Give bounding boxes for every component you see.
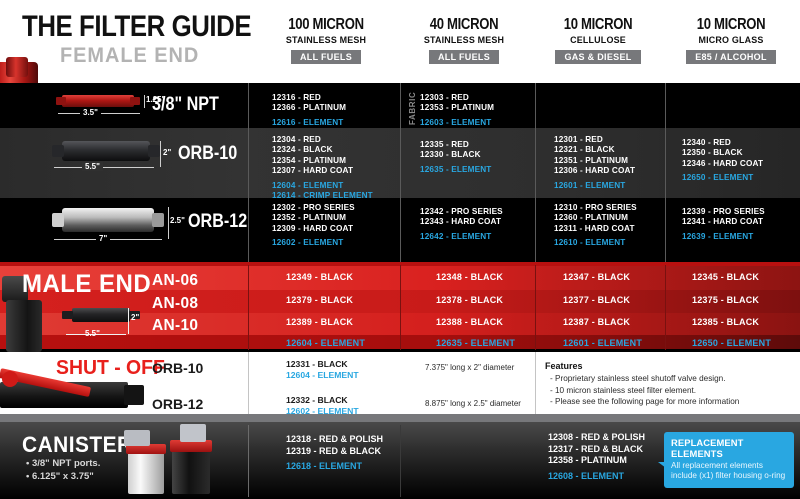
dimension-line-orb12-dia — [168, 207, 169, 239]
dimension-npt-length: 3.5" — [80, 108, 101, 117]
filter-photo-orb10 — [62, 141, 150, 161]
shutoff-dims-orb10: 7.375" long x 2" diameter — [425, 363, 514, 372]
element-part-number: 12601 - ELEMENT — [554, 181, 635, 191]
column-header-3: 10 MICRON MICRO GLASS E85 / ALCOHOL — [664, 16, 798, 65]
element-part-number: 12604 - ELEMENT — [286, 370, 359, 381]
cell-orb10-10micron-glass: 12340 - RED 12350 - BLACK 12346 - HARD C… — [682, 138, 763, 184]
part-number: 12332 - BLACK — [286, 395, 359, 406]
dimension-orb12-diameter: 2.5" — [170, 216, 185, 225]
feature-item: - Please see the following page for more… — [550, 396, 739, 408]
part-number: 12346 - HARD COAT — [682, 159, 763, 169]
shutoff-lever-pivot — [2, 371, 18, 387]
male-part-c0-r2: 12389 - BLACK — [286, 317, 353, 327]
element-part-number: 12602 - ELEMENT — [272, 238, 355, 248]
filter-photo-npt-end-r — [130, 97, 140, 105]
fabric-label: FABRIC — [408, 93, 417, 125]
male-size-an06: AN-06 — [152, 272, 198, 290]
canister-photo-polish — [128, 450, 164, 494]
cell-npt-40micron: 12303 - RED 12353 - PLATINUM 12603 - ELE… — [420, 93, 494, 128]
male-part-c3-r0: 12345 - BLACK — [692, 272, 759, 282]
shutoff-cell-orb10: 12331 - BLACK 12604 - ELEMENT — [286, 359, 359, 381]
male-part-c3-r2: 12385 - BLACK — [692, 317, 759, 327]
shutoff-row-label-orb10: ORB-10 — [152, 360, 203, 376]
male-filter-end-l — [62, 311, 73, 319]
part-number: 12341 - HARD COAT — [682, 217, 765, 227]
header-band: THE FILTER GUIDE FEMALE END 100 MICRON S… — [0, 0, 800, 83]
column-micron: 100 MICRON — [269, 16, 384, 34]
row-label-npt: 3/8" NPT — [152, 94, 219, 116]
column-divider-1 — [400, 83, 401, 262]
male-part-c2-r2: 12387 - BLACK — [563, 317, 630, 327]
filter-photo-npt — [62, 95, 134, 107]
part-number: 12302 - PRO SERIES — [272, 203, 355, 213]
shutoff-divider-1 — [535, 352, 536, 422]
cell-orb12-10micron-cellulose: 12310 - PRO SERIES 12360 - PLATINUM 1231… — [554, 203, 637, 249]
cell-orb10-10micron-cellulose: 12301 - RED 12321 - BLACK 12351 - PLATIN… — [554, 135, 635, 191]
female-end-grid: 3.5" 1.25" 3/8" NPT 12316 - RED 12366 - … — [0, 83, 800, 262]
filter-photo-orb12-end-r — [152, 213, 164, 227]
an-fitting-body-photo — [6, 300, 42, 352]
dimension-male-diameter: 2" — [131, 313, 139, 322]
part-number: 12309 - HARD COAT — [272, 224, 355, 234]
male-part-c2-r1: 12377 - BLACK — [563, 295, 630, 305]
shutoff-row-label-orb12: ORB-12 — [152, 396, 203, 412]
element-part-number: 12603 - ELEMENT — [420, 118, 494, 128]
male-divider-3 — [665, 265, 666, 350]
part-number: 12304 - RED — [272, 135, 373, 145]
part-number: 12330 - BLACK — [420, 150, 491, 160]
part-number: 12306 - HARD COAT — [554, 166, 635, 176]
male-part-c0-r1: 12379 - BLACK — [286, 295, 353, 305]
canister-bullet-1: • 6.125" x 3.75" — [26, 471, 94, 482]
cell-orb12-100micron: 12302 - PRO SERIES 12352 - PLATINUM 1230… — [272, 203, 355, 249]
cell-orb10-100micron: 12304 - RED 12324 - BLACK 12354 - PLATIN… — [272, 135, 373, 201]
element-part-number: 12650 - ELEMENT — [682, 173, 763, 183]
features-title: Features — [545, 361, 583, 371]
male-part-c0-r0: 12349 - BLACK — [286, 272, 353, 282]
page-subtitle: FEMALE END — [60, 44, 199, 68]
filter-photo-orb10-end-r — [148, 145, 160, 157]
canister-bullet-0: • 3/8" NPT ports. — [26, 458, 100, 469]
dimension-line-orb10-dia — [160, 141, 161, 167]
male-part-c3-r1: 12375 - BLACK — [692, 295, 759, 305]
male-element-c0: 12604 - ELEMENT — [286, 338, 365, 348]
dimension-orb12-length: 7" — [96, 234, 110, 243]
dimension-male-length: 5.5" — [85, 329, 100, 338]
canister-divider-1 — [400, 425, 401, 497]
part-number: 12331 - BLACK — [286, 359, 359, 370]
column-header-2: 10 MICRON CELLULOSE GAS & DIESEL — [532, 16, 664, 65]
column-media: CELLULOSE — [536, 35, 660, 46]
canister-cell-left: 12318 - RED & POLISH 12319 - RED & BLACK… — [286, 434, 383, 473]
filter-photo-orb12-end-l — [52, 213, 64, 227]
row-label-orb10: ORB-10 — [178, 143, 237, 165]
dimension-line-npt-dia — [144, 95, 145, 108]
filter-guide-page: THE FILTER GUIDE FEMALE END 100 MICRON S… — [0, 0, 800, 499]
column-media: STAINLESS MESH — [400, 35, 528, 46]
male-part-c1-r1: 12378 - BLACK — [436, 295, 503, 305]
canister-cell-right: 12308 - RED & POLISH 12317 - RED & BLACK… — [548, 432, 645, 482]
male-part-c1-r0: 12348 - BLACK — [436, 272, 503, 282]
canister-photo-black-bracket — [180, 424, 206, 442]
cell-orb12-10micron-glass: 12339 - PRO SERIES 12341 - HARD COAT 126… — [682, 207, 765, 242]
part-number: 12303 - RED — [420, 93, 494, 103]
shutoff-divider-0 — [248, 352, 249, 422]
part-number: 12339 - PRO SERIES — [682, 207, 765, 217]
column-fuel-badge: ALL FUELS — [429, 50, 499, 64]
element-part-number: 12610 - ELEMENT — [554, 238, 637, 248]
part-number: 12321 - BLACK — [554, 145, 635, 155]
red-bottle-cap — [6, 57, 28, 77]
column-micron: 10 MICRON — [676, 16, 786, 34]
feature-item: - 10 micron stainless steel filter eleme… — [550, 385, 739, 397]
canister-divider-0 — [248, 425, 249, 497]
element-part-number: 12614 - CRIMP ELEMENT — [272, 191, 373, 201]
column-media: STAINLESS MESH — [260, 35, 392, 46]
dimension-orb10-diameter: 2" — [163, 148, 171, 157]
part-number: 12351 - PLATINUM — [554, 156, 635, 166]
column-divider-0 — [248, 83, 249, 262]
part-number: 12324 - BLACK — [272, 145, 373, 155]
column-header-1: 40 MICRON STAINLESS MESH ALL FUELS — [396, 16, 532, 65]
part-number: 12360 - PLATINUM — [554, 213, 637, 223]
element-part-number: 12616 - ELEMENT — [272, 118, 346, 128]
male-part-c2-r0: 12347 - BLACK — [563, 272, 630, 282]
canister-photo-black — [172, 448, 210, 494]
callout-title: REPLACEMENT ELEMENTS — [671, 437, 787, 459]
part-number: 12317 - RED & BLACK — [548, 444, 645, 456]
cell-orb10-40micron: 12335 - RED 12330 - BLACK 12635 - ELEMEN… — [420, 140, 491, 175]
part-number: 12310 - PRO SERIES — [554, 203, 637, 213]
male-size-an10: AN-10 — [152, 317, 198, 335]
part-number: 12352 - PLATINUM — [272, 213, 355, 223]
callout-body: All replacement elements include (x1) fi… — [671, 461, 787, 482]
cell-npt-100micron: 12316 - RED 12366 - PLATINUM 12616 - ELE… — [272, 93, 346, 128]
dimension-line-male-dia — [128, 308, 129, 334]
column-fuel-badge: GAS & DIESEL — [555, 50, 640, 64]
dimension-line-orb10-length — [54, 167, 154, 168]
male-element-c1: 12635 - ELEMENT — [436, 338, 515, 348]
male-divider-0 — [248, 265, 249, 350]
replacement-elements-callout: REPLACEMENT ELEMENTS All replacement ele… — [664, 432, 794, 488]
part-number: 12343 - HARD COAT — [420, 217, 503, 227]
row-label-orb12: ORB-12 — [188, 211, 247, 233]
shut-off-title: SHUT - OFF — [56, 357, 165, 380]
column-media: MICRO GLASS — [668, 35, 794, 46]
part-number: 12358 - PLATINUM — [548, 455, 645, 467]
part-number: 12340 - RED — [682, 138, 763, 148]
column-divider-2 — [535, 83, 536, 262]
part-number: 12366 - PLATINUM — [272, 103, 346, 113]
separator-bar — [0, 414, 800, 422]
part-number: 12353 - PLATINUM — [420, 103, 494, 113]
part-number: 12335 - RED — [420, 140, 491, 150]
male-end-title: MALE END — [22, 270, 151, 299]
filter-photo-orb12 — [62, 208, 154, 232]
column-micron: 40 MICRON — [408, 16, 520, 34]
canister-title: CANISTER — [22, 432, 133, 458]
shutoff-dims-orb12: 8.875" long x 2.5" diameter — [425, 399, 521, 408]
column-fuel-badge: ALL FUELS — [291, 50, 361, 64]
part-number: 12318 - RED & POLISH — [286, 434, 383, 446]
male-divider-2 — [535, 265, 536, 350]
column-divider-3 — [665, 83, 666, 262]
part-number: 12342 - PRO SERIES — [420, 207, 503, 217]
column-header-0: 100 MICRON STAINLESS MESH ALL FUELS — [256, 16, 396, 65]
male-size-an08: AN-08 — [152, 295, 198, 313]
male-element-c2: 12601 - ELEMENT — [563, 338, 642, 348]
male-filter-photo — [72, 308, 130, 322]
filter-photo-orb10-end-l — [52, 145, 64, 157]
part-number: 12307 - HARD COAT — [272, 166, 373, 176]
column-micron: 10 MICRON — [544, 16, 652, 34]
male-element-c3: 12650 - ELEMENT — [692, 338, 771, 348]
column-fuel-badge: E85 / ALCOHOL — [686, 50, 776, 64]
dimension-orb10-length: 5.5" — [82, 162, 103, 171]
male-part-c1-r2: 12388 - BLACK — [436, 317, 503, 327]
page-title: THE FILTER GUIDE — [22, 10, 251, 44]
element-part-number: 12604 - ELEMENT — [272, 181, 373, 191]
feature-item: - Proprietary stainless steel shutoff va… — [550, 373, 739, 385]
features-list: - Proprietary stainless steel shutoff va… — [550, 373, 739, 408]
canister-photo-polish-bracket — [124, 430, 150, 446]
shutoff-valve-nose-photo — [124, 385, 144, 405]
element-part-number: 12639 - ELEMENT — [682, 232, 765, 242]
element-part-number: 12618 - ELEMENT — [286, 461, 383, 473]
part-number: 12319 - RED & BLACK — [286, 446, 383, 458]
cell-orb12-40micron: 12342 - PRO SERIES 12343 - HARD COAT 126… — [420, 207, 503, 242]
male-divider-1 — [400, 265, 401, 350]
part-number: 12311 - HARD COAT — [554, 224, 637, 234]
part-number: 12350 - BLACK — [682, 148, 763, 158]
element-part-number: 12635 - ELEMENT — [420, 165, 491, 175]
part-number: 12354 - PLATINUM — [272, 156, 373, 166]
part-number: 12308 - RED & POLISH — [548, 432, 645, 444]
element-part-number: 12642 - ELEMENT — [420, 232, 503, 242]
element-part-number: 12608 - ELEMENT — [548, 471, 645, 483]
filter-photo-npt-end-l — [56, 97, 66, 105]
part-number: 12316 - RED — [272, 93, 346, 103]
part-number: 12301 - RED — [554, 135, 635, 145]
